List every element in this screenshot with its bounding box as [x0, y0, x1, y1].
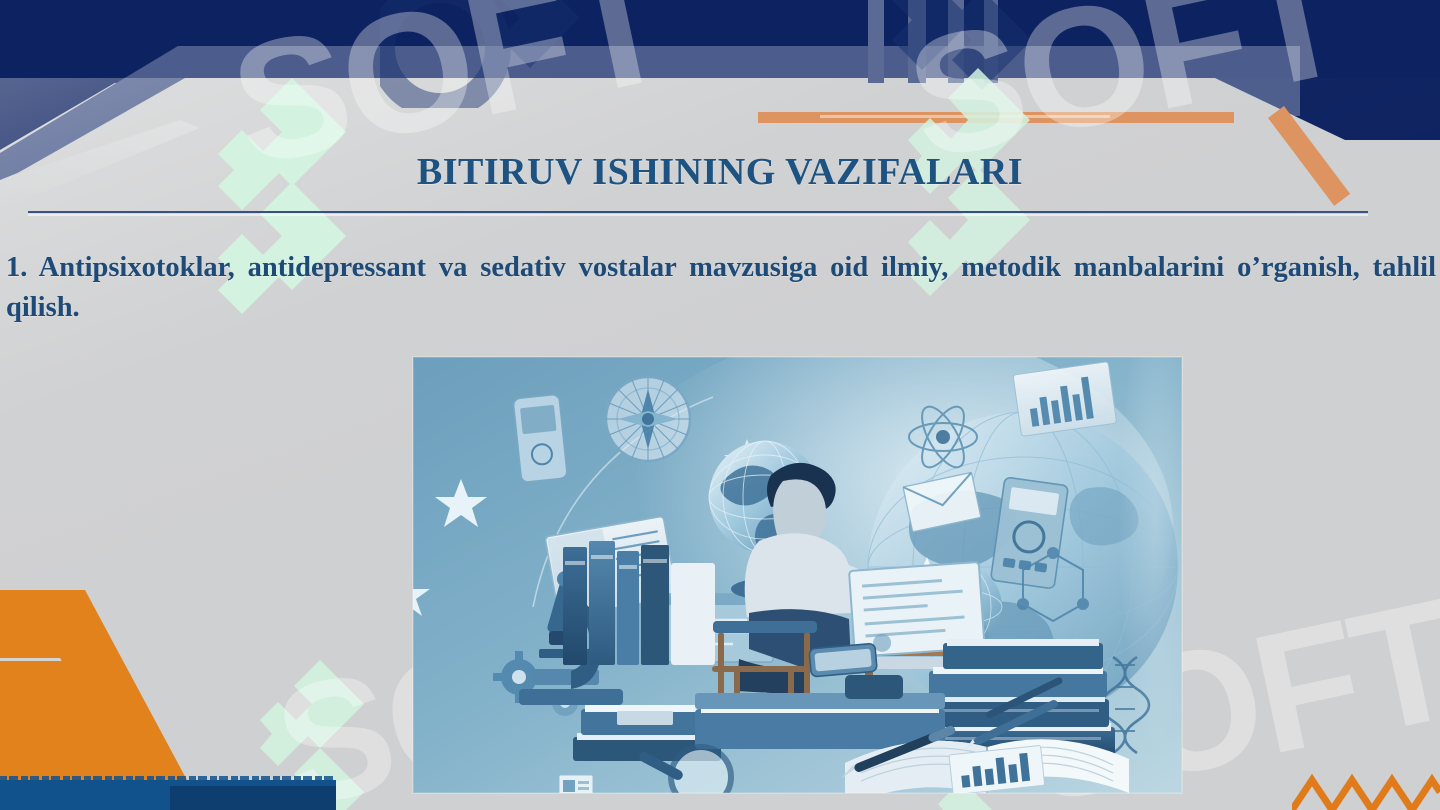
navy-stripe-3: [948, 0, 964, 83]
illustration-artwork: [413, 357, 1182, 793]
navy-stripe-2: [908, 0, 926, 83]
slide-body-text: 1. Antipsixotoklar, antidepressant va se…: [6, 248, 1436, 369]
navy-stripe-1: [868, 0, 884, 83]
orange-zigzag-accent: [1292, 768, 1440, 810]
slide-title: BITIRUV ISHINING VAZIFALARI: [0, 150, 1440, 194]
title-underline-shadow: [28, 214, 1368, 216]
navy-stripe-4: [984, 0, 998, 83]
bottom-blue-band-dark: [170, 786, 336, 810]
illustration-image: [413, 357, 1182, 793]
orange-accent-bar-highlight: [820, 115, 1110, 118]
title-underline: [28, 211, 1368, 213]
presentation-slide: SOFT SOFT SOFT SOFT BITIRUV ISHINING VAZ…: [0, 0, 1440, 810]
